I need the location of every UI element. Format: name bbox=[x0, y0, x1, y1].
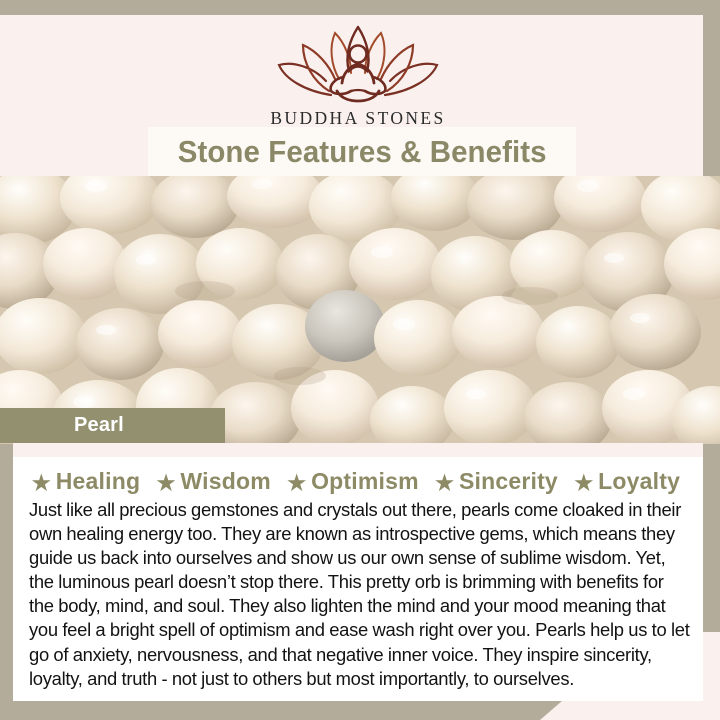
benefit-keywords: ★Healing ★Wisdom ★Optimism ★Sincerity ★L… bbox=[13, 468, 703, 495]
star-icon: ★ bbox=[32, 473, 51, 494]
pearls-photo-graphic bbox=[0, 176, 720, 444]
keyword-label: Loyalty bbox=[598, 468, 680, 495]
keyword-optimism: ★Optimism bbox=[284, 468, 432, 494]
infographic-page: BUDDHA STONES Stone Features & Benefits bbox=[0, 0, 720, 720]
star-icon: ★ bbox=[574, 473, 593, 494]
stone-name-badge: Pearl bbox=[0, 408, 225, 443]
keyword-healing: ★Healing bbox=[29, 468, 154, 494]
lotus-meditating-figure-icon bbox=[269, 21, 447, 107]
star-icon: ★ bbox=[435, 473, 454, 494]
frame-band-bottom-wedge bbox=[540, 701, 562, 720]
keyword-label: Sincerity bbox=[459, 468, 558, 495]
frame-band-bottom bbox=[0, 701, 540, 720]
content-top-strip bbox=[13, 443, 703, 457]
stone-name-label: Pearl bbox=[74, 414, 124, 437]
page-title: Stone Features & Benefits bbox=[178, 134, 547, 170]
keyword-label: Wisdom bbox=[180, 468, 270, 495]
star-icon: ★ bbox=[157, 473, 176, 494]
content-panel: ★Healing ★Wisdom ★Optimism ★Sincerity ★L… bbox=[13, 443, 703, 701]
brand-name: BUDDHA STONES bbox=[13, 108, 703, 129]
keyword-wisdom: ★Wisdom bbox=[154, 468, 285, 494]
brand-logo: BUDDHA STONES bbox=[13, 21, 703, 129]
title-bar: Stone Features & Benefits bbox=[148, 127, 576, 176]
keyword-sincerity: ★Sincerity bbox=[432, 468, 571, 494]
frame-band-left bbox=[0, 443, 13, 701]
description-paragraph: Just like all precious gemstones and cry… bbox=[29, 498, 691, 691]
keyword-label: Optimism bbox=[311, 468, 419, 495]
star-icon: ★ bbox=[287, 473, 306, 494]
keyword-loyalty: ★Loyalty bbox=[571, 468, 687, 494]
hero-photo bbox=[0, 176, 720, 444]
keyword-label: Healing bbox=[56, 468, 140, 495]
frame-band-top bbox=[0, 0, 720, 15]
